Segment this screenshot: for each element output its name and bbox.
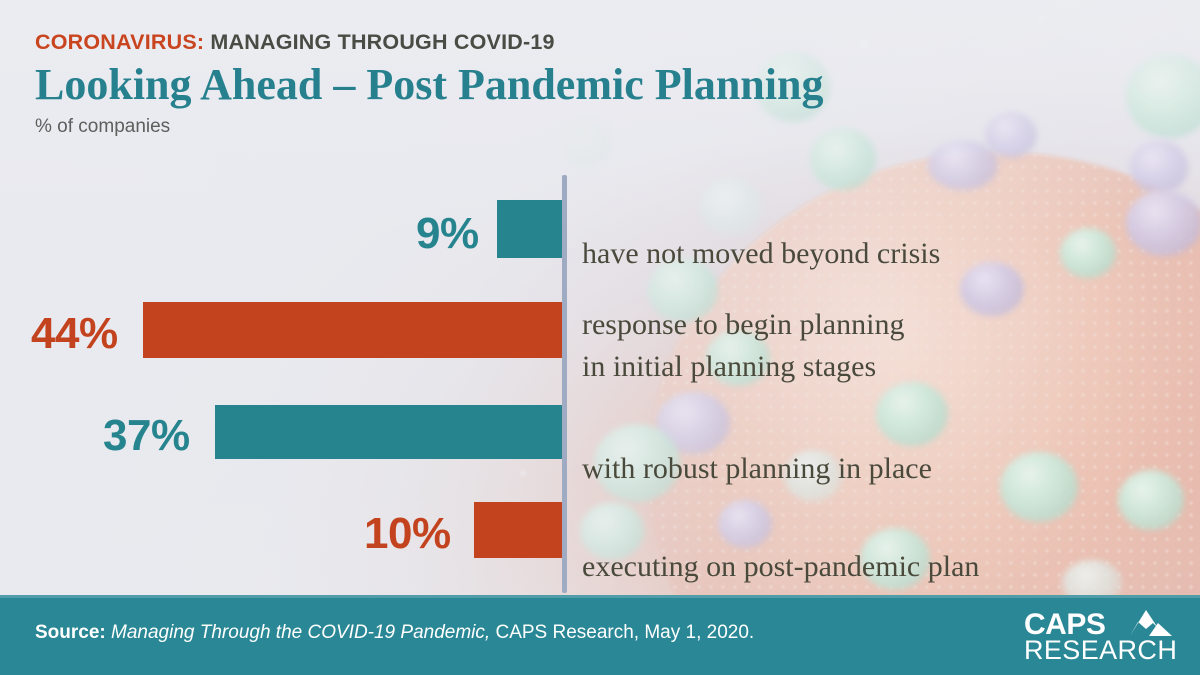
bar-value-3: 37% bbox=[103, 414, 190, 458]
chart-subtitle: % of companies bbox=[35, 116, 823, 138]
caps-research-logo[interactable]: CAPS RESEARCH bbox=[1024, 610, 1172, 662]
bar-label-4: executing on post-pandemic plan bbox=[582, 514, 979, 585]
bar-1 bbox=[497, 200, 562, 258]
header: CORONAVIRUS: MANAGING THROUGH COVID-19 L… bbox=[35, 30, 823, 138]
source-title: Managing Through the COVID-19 Pandemic, bbox=[106, 622, 490, 643]
bar-label-2: in initial planning stages bbox=[582, 314, 876, 385]
bar-3 bbox=[215, 405, 562, 459]
bar-label-1-line1: have not moved beyond crisis bbox=[582, 237, 940, 270]
bar-value-2: 44% bbox=[31, 312, 118, 356]
bar-label-2-line1: in initial planning stages bbox=[582, 350, 876, 383]
bar-label-3-line1: with robust planning in place bbox=[582, 452, 932, 485]
bar-2 bbox=[143, 302, 562, 358]
footer-bar: Source: Managing Through the COVID-19 Pa… bbox=[0, 595, 1200, 675]
mountain-icon bbox=[1110, 609, 1172, 636]
eyebrow-rest: MANAGING THROUGH COVID-19 bbox=[204, 30, 554, 54]
bar-4 bbox=[474, 502, 562, 558]
bar-value-1: 9% bbox=[416, 212, 479, 256]
bar-value-4: 10% bbox=[364, 512, 451, 556]
eyebrow-highlight: CORONAVIRUS: bbox=[35, 30, 204, 54]
chart-row: 44% in initial planning stages bbox=[0, 302, 1200, 358]
eyebrow-kicker: CORONAVIRUS: MANAGING THROUGH COVID-19 bbox=[35, 30, 823, 55]
bar-label-4-line1: executing on post-pandemic plan bbox=[582, 550, 979, 583]
page-title: Looking Ahead – Post Pandemic Planning bbox=[35, 60, 823, 109]
chart-row: 9% have not moved beyond crisis response… bbox=[0, 200, 1200, 258]
logo-research-text: RESEARCH bbox=[1024, 637, 1177, 664]
infographic-slide: CORONAVIRUS: MANAGING THROUGH COVID-19 L… bbox=[0, 0, 1200, 675]
bar-label-3: with robust planning in place bbox=[582, 416, 932, 487]
source-attribution: Source: Managing Through the COVID-19 Pa… bbox=[35, 622, 754, 644]
chart-row: 10% executing on post-pandemic plan bbox=[0, 502, 1200, 558]
footer-divider bbox=[0, 595, 1200, 598]
bar-chart: 9% have not moved beyond crisis response… bbox=[0, 168, 1200, 593]
source-label: Source: bbox=[35, 622, 106, 643]
source-rest: CAPS Research, May 1, 2020. bbox=[490, 622, 754, 643]
chart-row: 37% with robust planning in place bbox=[0, 405, 1200, 459]
